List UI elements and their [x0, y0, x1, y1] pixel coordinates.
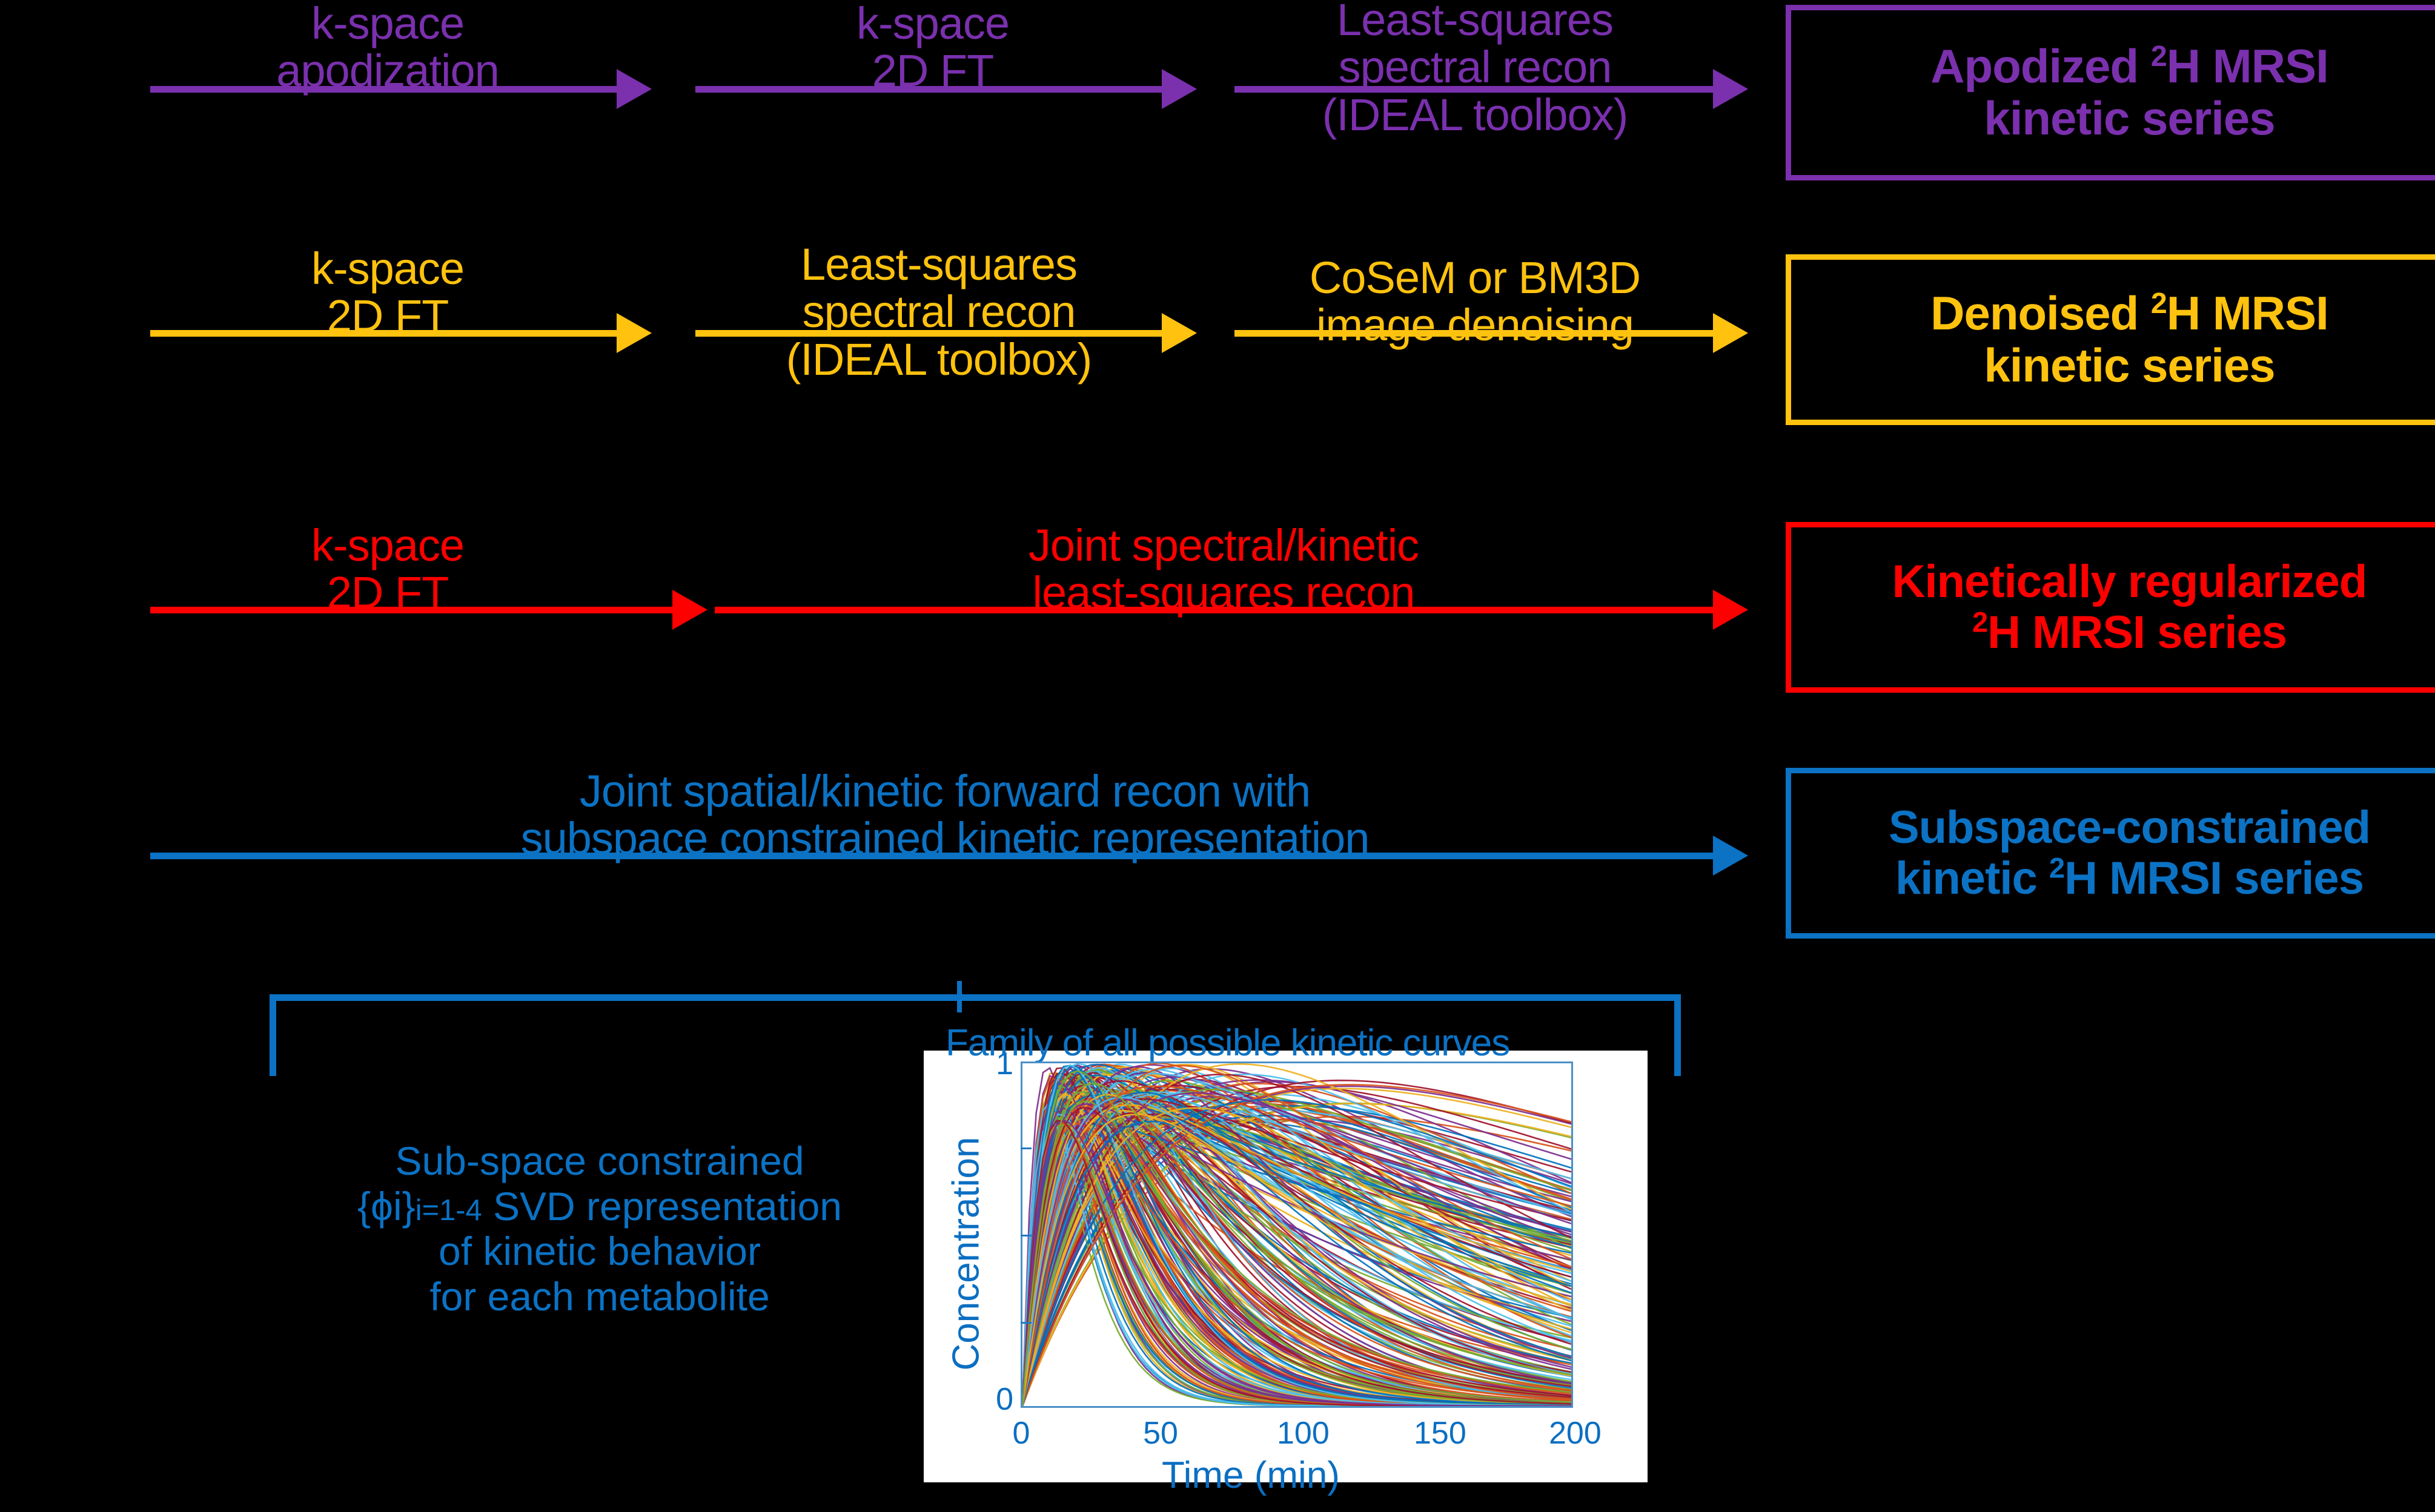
arrow-head-3-1	[672, 590, 707, 630]
callout-caption-line-4: for each metabolite	[291, 1274, 909, 1319]
arrow-head-1-2	[1162, 69, 1197, 109]
output-box-denoised-label: Denoised 2H MRSIkinetic series	[1930, 288, 2328, 392]
arrow-head-2-1	[617, 313, 652, 353]
output-box-denoised: Denoised 2H MRSIkinetic series	[1786, 254, 2435, 425]
chart-plot-area	[1021, 1061, 1573, 1408]
arrow-head-2-2	[1162, 313, 1197, 353]
output-box-apodized-label: Apodized 2H MRSIkinetic series	[1930, 41, 2328, 145]
step-label-3-1: k-space 2D FT	[260, 522, 515, 617]
x-tick-label-3: 150	[1414, 1415, 1462, 1451]
y-tick-label-0: 0	[989, 1381, 1013, 1418]
step-label-1-2: k-space 2D FT	[806, 0, 1060, 95]
chart-title: Family of all possible kinetic curves	[946, 1022, 1509, 1065]
arrow-head-1-1	[617, 69, 652, 109]
x-tick-label-0: 0	[1006, 1415, 1036, 1451]
x-tick-label-4: 200	[1549, 1415, 1597, 1451]
y-tick-mark-mid-1	[1021, 1147, 1032, 1149]
x-tick-label-2: 100	[1277, 1415, 1325, 1451]
output-box-subspace-constrained: Subspace-constrainedkinetic 2H MRSI seri…	[1786, 768, 2435, 939]
output-box-apodized: Apodized 2H MRSIkinetic series	[1786, 5, 2435, 180]
callout-caption-line-3: of kinetic behavior	[291, 1229, 909, 1274]
arrow-head-4-1	[1713, 836, 1748, 876]
callout-caption: Sub-space constrained {ϕi}i=1-4 SVD repr…	[291, 1138, 909, 1319]
x-tick-label-1: 50	[1142, 1415, 1179, 1451]
callout-symbol-prefix: {ϕi}	[357, 1184, 416, 1229]
bracket-top-line	[270, 994, 1681, 1001]
callout-caption-line-2: {ϕi}i=1-4 SVD representation	[291, 1184, 909, 1229]
arrow-head-2-3	[1713, 313, 1748, 353]
callout-caption-line-1: Sub-space constrained	[291, 1138, 909, 1184]
output-box-subspace-constrained-label: Subspace-constrainedkinetic 2H MRSI seri…	[1889, 802, 2370, 903]
x-axis-title: Time (min)	[1124, 1454, 1378, 1497]
callout-symbol-rest: SVD representation	[482, 1184, 842, 1229]
step-label-4-1: Joint spatial/kinetic forward recon with…	[376, 768, 1514, 863]
callout-symbol-subscript: i=1-4	[416, 1194, 482, 1227]
bracket-left-stub	[270, 994, 276, 1076]
output-box-kinetically-regularized-label: Kinetically regularized2H MRSI series	[1892, 556, 2367, 658]
step-label-2-3: CoSeM or BM3D image denoising	[1236, 254, 1714, 349]
step-label-2-1: k-space 2D FT	[260, 245, 515, 340]
y-tick-mark-mid-3	[1021, 1322, 1032, 1324]
y-tick-mark-mid-2	[1021, 1235, 1032, 1236]
step-label-1-3: Least-squares spectral recon (IDEAL tool…	[1242, 0, 1708, 139]
arrow-head-3-2	[1713, 590, 1748, 630]
bracket-right-stub	[1674, 994, 1681, 1076]
y-tick-label-1: 1	[989, 1046, 1013, 1082]
step-label-2-2: Least-squares spectral recon (IDEAL tool…	[721, 241, 1157, 383]
kinetic-curves-svg	[1022, 1063, 1571, 1406]
step-label-3-2: Joint spectral/kinetic least-squares rec…	[860, 522, 1587, 617]
output-box-kinetically-regularized: Kinetically regularized2H MRSI series	[1786, 522, 2435, 693]
step-label-1-1: k-space apodization	[260, 0, 515, 95]
kinetic-curves-chart: Family of all possible kinetic curves Co…	[924, 1051, 1648, 1482]
y-axis-title: Concentration	[945, 1127, 988, 1381]
arrow-head-1-3	[1713, 69, 1748, 109]
